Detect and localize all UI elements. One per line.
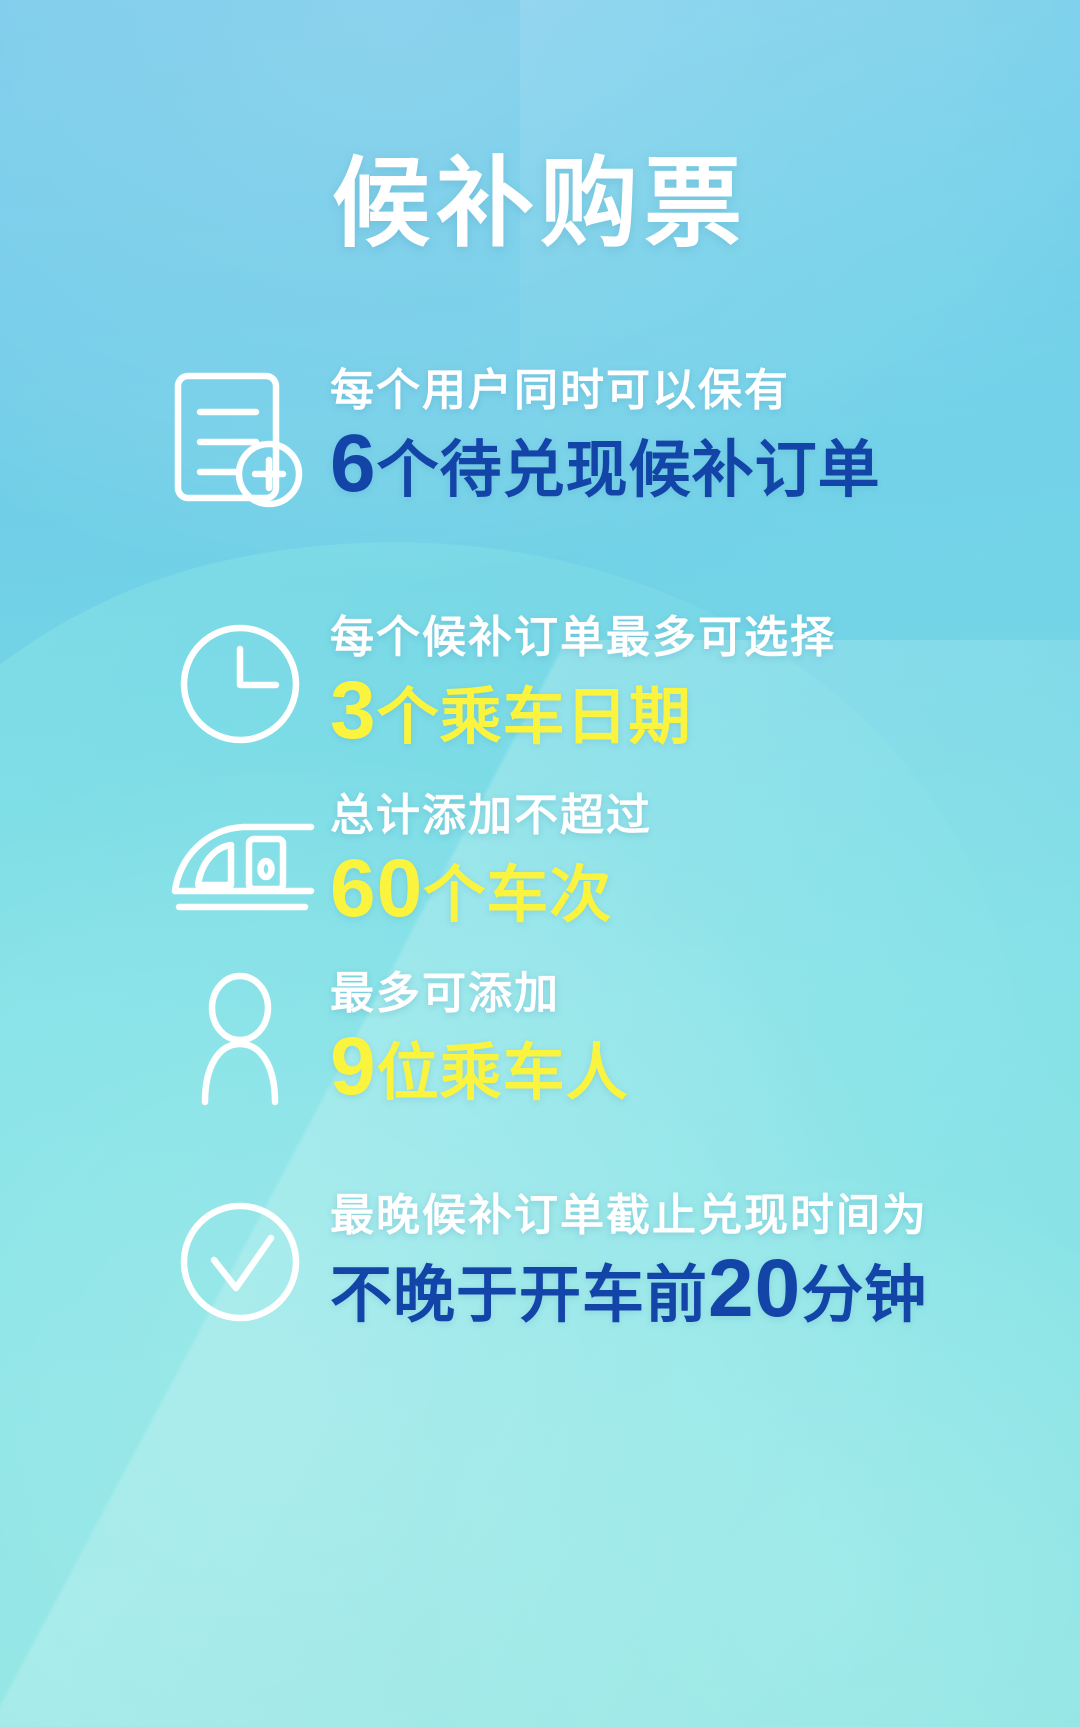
fact-lead: 最晚候补订单截止兑现时间为 xyxy=(330,1190,928,1242)
fact-number: 60 xyxy=(330,843,423,934)
fact-number: 9 xyxy=(330,1021,377,1112)
check-circle-icon xyxy=(150,1196,330,1328)
fact-highlight: 9位乘车人 xyxy=(330,1030,629,1112)
train-icon xyxy=(150,807,330,917)
fact-number: 20 xyxy=(708,1243,801,1334)
fact-text-dates: 每个候补订单最多可选择 3个乘车日期 xyxy=(330,612,836,756)
fact-highlight: 3个乘车日期 xyxy=(330,674,836,756)
page-title: 候补购票 xyxy=(0,124,1080,266)
fact-text-deadline: 最晚候补订单截止兑现时间为 不晚于开车前20分钟 xyxy=(330,1190,928,1334)
fact-unit: 分钟 xyxy=(801,1261,927,1330)
fact-row-passengers: 最多可添加 9位乘车人 xyxy=(150,968,629,1112)
fact-row-dates: 每个候补订单最多可选择 3个乘车日期 xyxy=(150,612,836,756)
fact-number: 3 xyxy=(330,665,377,756)
fact-text-orders: 每个用户同时可以保有 6个待兑现候补订单 xyxy=(330,365,881,509)
fact-unit: 个待兑现候补订单 xyxy=(377,436,881,505)
person-icon xyxy=(150,970,330,1110)
fact-highlight: 60个车次 xyxy=(330,852,652,934)
fact-prefix: 不晚于开车前 xyxy=(330,1261,708,1330)
fact-row-trains: 总计添加不超过 60个车次 xyxy=(150,790,652,934)
fact-lead: 最多可添加 xyxy=(330,968,629,1020)
fact-lead: 每个候补订单最多可选择 xyxy=(330,612,836,664)
document-plus-icon xyxy=(150,362,330,512)
poster-canvas: 候补购票 每个用户同时可以保有 xyxy=(0,0,1080,1727)
fact-number: 6 xyxy=(330,418,377,509)
fact-unit: 个车次 xyxy=(423,861,612,930)
fact-row-deadline: 最晚候补订单截止兑现时间为 不晚于开车前20分钟 xyxy=(150,1190,928,1334)
fact-unit: 位乘车人 xyxy=(377,1039,629,1108)
fact-lead: 每个用户同时可以保有 xyxy=(330,365,881,417)
fact-unit: 个乘车日期 xyxy=(377,683,692,752)
fact-text-passengers: 最多可添加 9位乘车人 xyxy=(330,968,629,1112)
fact-text-trains: 总计添加不超过 60个车次 xyxy=(330,790,652,934)
fact-lead: 总计添加不超过 xyxy=(330,790,652,842)
fact-highlight: 6个待兑现候补订单 xyxy=(330,427,881,509)
fact-highlight: 不晚于开车前20分钟 xyxy=(330,1252,928,1334)
fact-row-orders: 每个用户同时可以保有 6个待兑现候补订单 xyxy=(150,362,881,512)
clock-icon xyxy=(150,619,330,749)
